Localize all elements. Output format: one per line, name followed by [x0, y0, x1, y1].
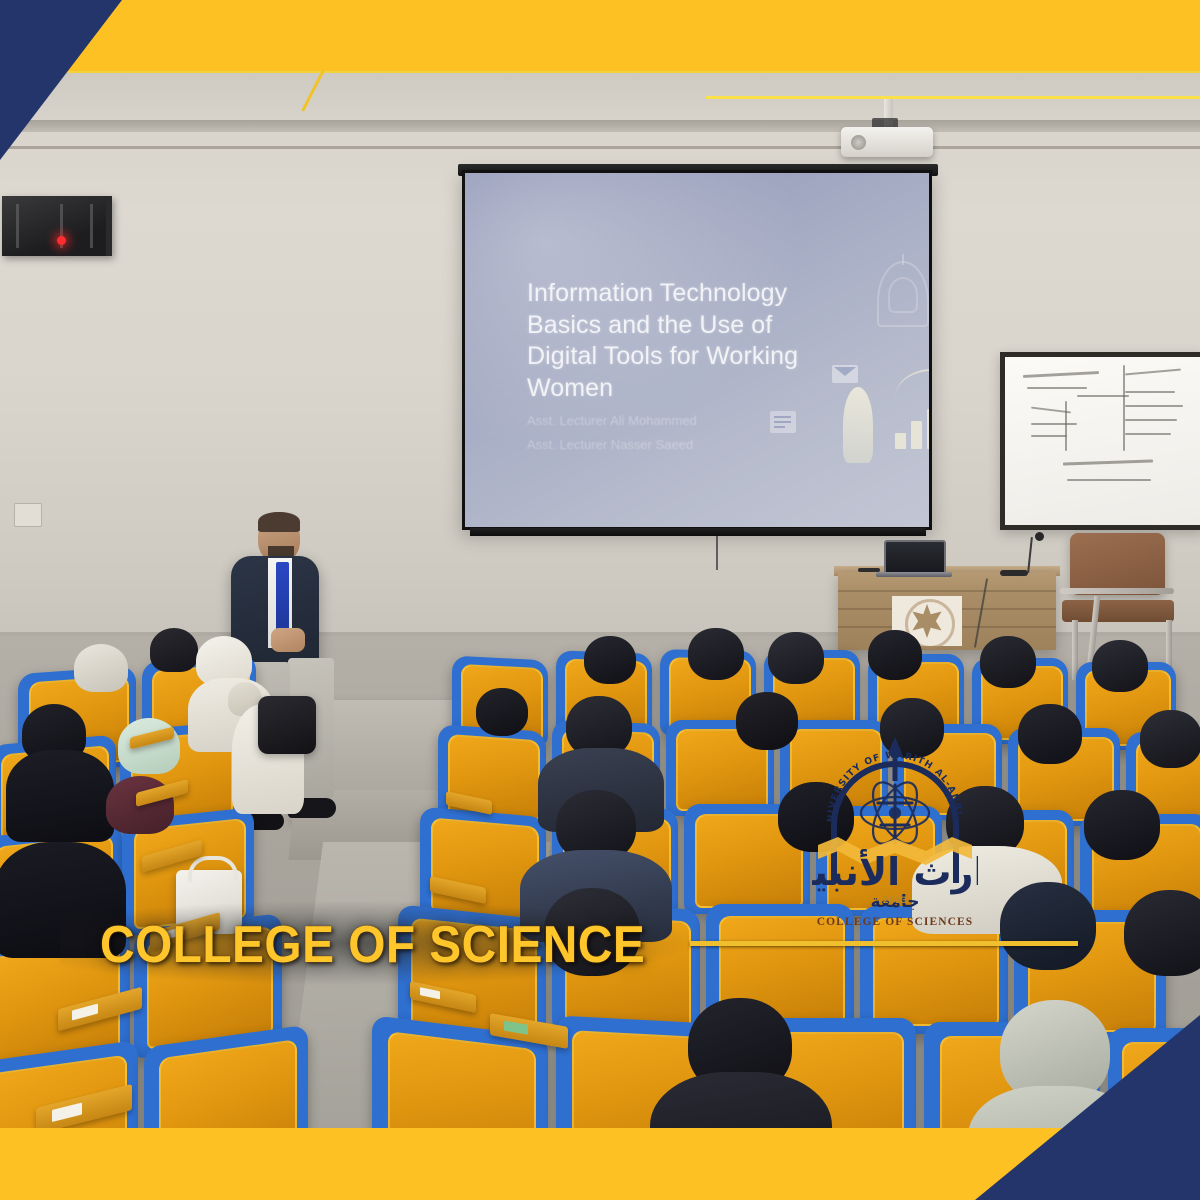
- top-gold-band: [0, 0, 1200, 72]
- attendee-head: [1000, 882, 1096, 970]
- attendee-head: [1140, 710, 1200, 768]
- microphone-base: [1000, 570, 1028, 576]
- poster-canvas: Information Technology Basics and the Us…: [0, 0, 1200, 1200]
- presentation-slide: Information Technology Basics and the Us…: [465, 173, 929, 527]
- projector-lens-icon: [851, 135, 866, 150]
- screen-pull-cord: [716, 536, 718, 570]
- attendee-head: [476, 688, 528, 736]
- attendee-head: [768, 632, 824, 684]
- svg-text:UNIVERSITY OF WARITH AL-ANBIYA: UNIVERSITY OF WARITH AL-ANBIYA: [812, 733, 964, 822]
- attendee-head: [584, 636, 636, 684]
- attendee-head: [74, 644, 128, 692]
- whiteboard: [1000, 352, 1200, 530]
- handbag-handle: [188, 856, 238, 882]
- attendee-bag: [258, 696, 316, 754]
- wall-speaker-icon: [2, 196, 112, 256]
- microphone-icon: [1035, 532, 1044, 541]
- slide-envelope-icon: [832, 365, 858, 383]
- wall-seam-upper: [0, 146, 1200, 149]
- speaker-led-indicator: [57, 236, 66, 245]
- page-title: COLLEGE OF SCIENCE: [100, 915, 645, 975]
- slide-person-icon: [843, 387, 873, 463]
- logo-year: 2023: [882, 896, 907, 906]
- slide-bar-chart-icon: [895, 389, 929, 449]
- attendee-head: [868, 630, 922, 680]
- attendee-head: [688, 628, 744, 680]
- logo-arabic-main: وارث الأنبياء: [812, 848, 978, 895]
- attendee-head: [980, 636, 1036, 688]
- bottom-right-navy-triangle: [975, 1015, 1200, 1200]
- top-left-navy-triangle: [0, 0, 122, 160]
- logo-arc-text: UNIVERSITY OF WARITH AL-ANBIYA: [812, 733, 964, 822]
- slide-emblem-icon: [877, 261, 929, 327]
- pen-icon: [858, 568, 880, 572]
- ceiling-beam: [0, 120, 1200, 132]
- wall-socket-icon: [14, 503, 42, 527]
- top-right-gold-hairline: [706, 96, 1200, 99]
- slide-document-icon: [770, 411, 796, 433]
- screen-bottom-bar: [470, 528, 926, 536]
- university-logo: UNIVERSITY OF WARITH AL-ANBIYA وارث الأن…: [812, 733, 978, 931]
- slide-title: Information Technology Basics and the Us…: [527, 278, 827, 404]
- attendee-head: [1018, 704, 1082, 764]
- laptop-base: [876, 572, 952, 577]
- attendee-head: [150, 628, 198, 672]
- slide-subtitle-line-2: Asst. Lecturer Nasser Saeed: [527, 435, 827, 455]
- title-divider-rule: [690, 941, 1078, 946]
- attendee-head: [1092, 640, 1148, 692]
- attendee-head: [736, 692, 798, 750]
- attendee-body: [6, 750, 114, 842]
- attendee-head: [1124, 890, 1200, 976]
- attendee-head: [1084, 790, 1160, 860]
- logo-bottom-text: COLLEGE OF SCIENCES: [817, 916, 974, 928]
- top-gold-band-edge: [0, 71, 1200, 73]
- leather-chair-back: [1070, 533, 1165, 595]
- leather-chair-arm: [1060, 588, 1174, 594]
- laptop-icon: [884, 540, 946, 576]
- projection-screen: Information Technology Basics and the Us…: [462, 170, 932, 530]
